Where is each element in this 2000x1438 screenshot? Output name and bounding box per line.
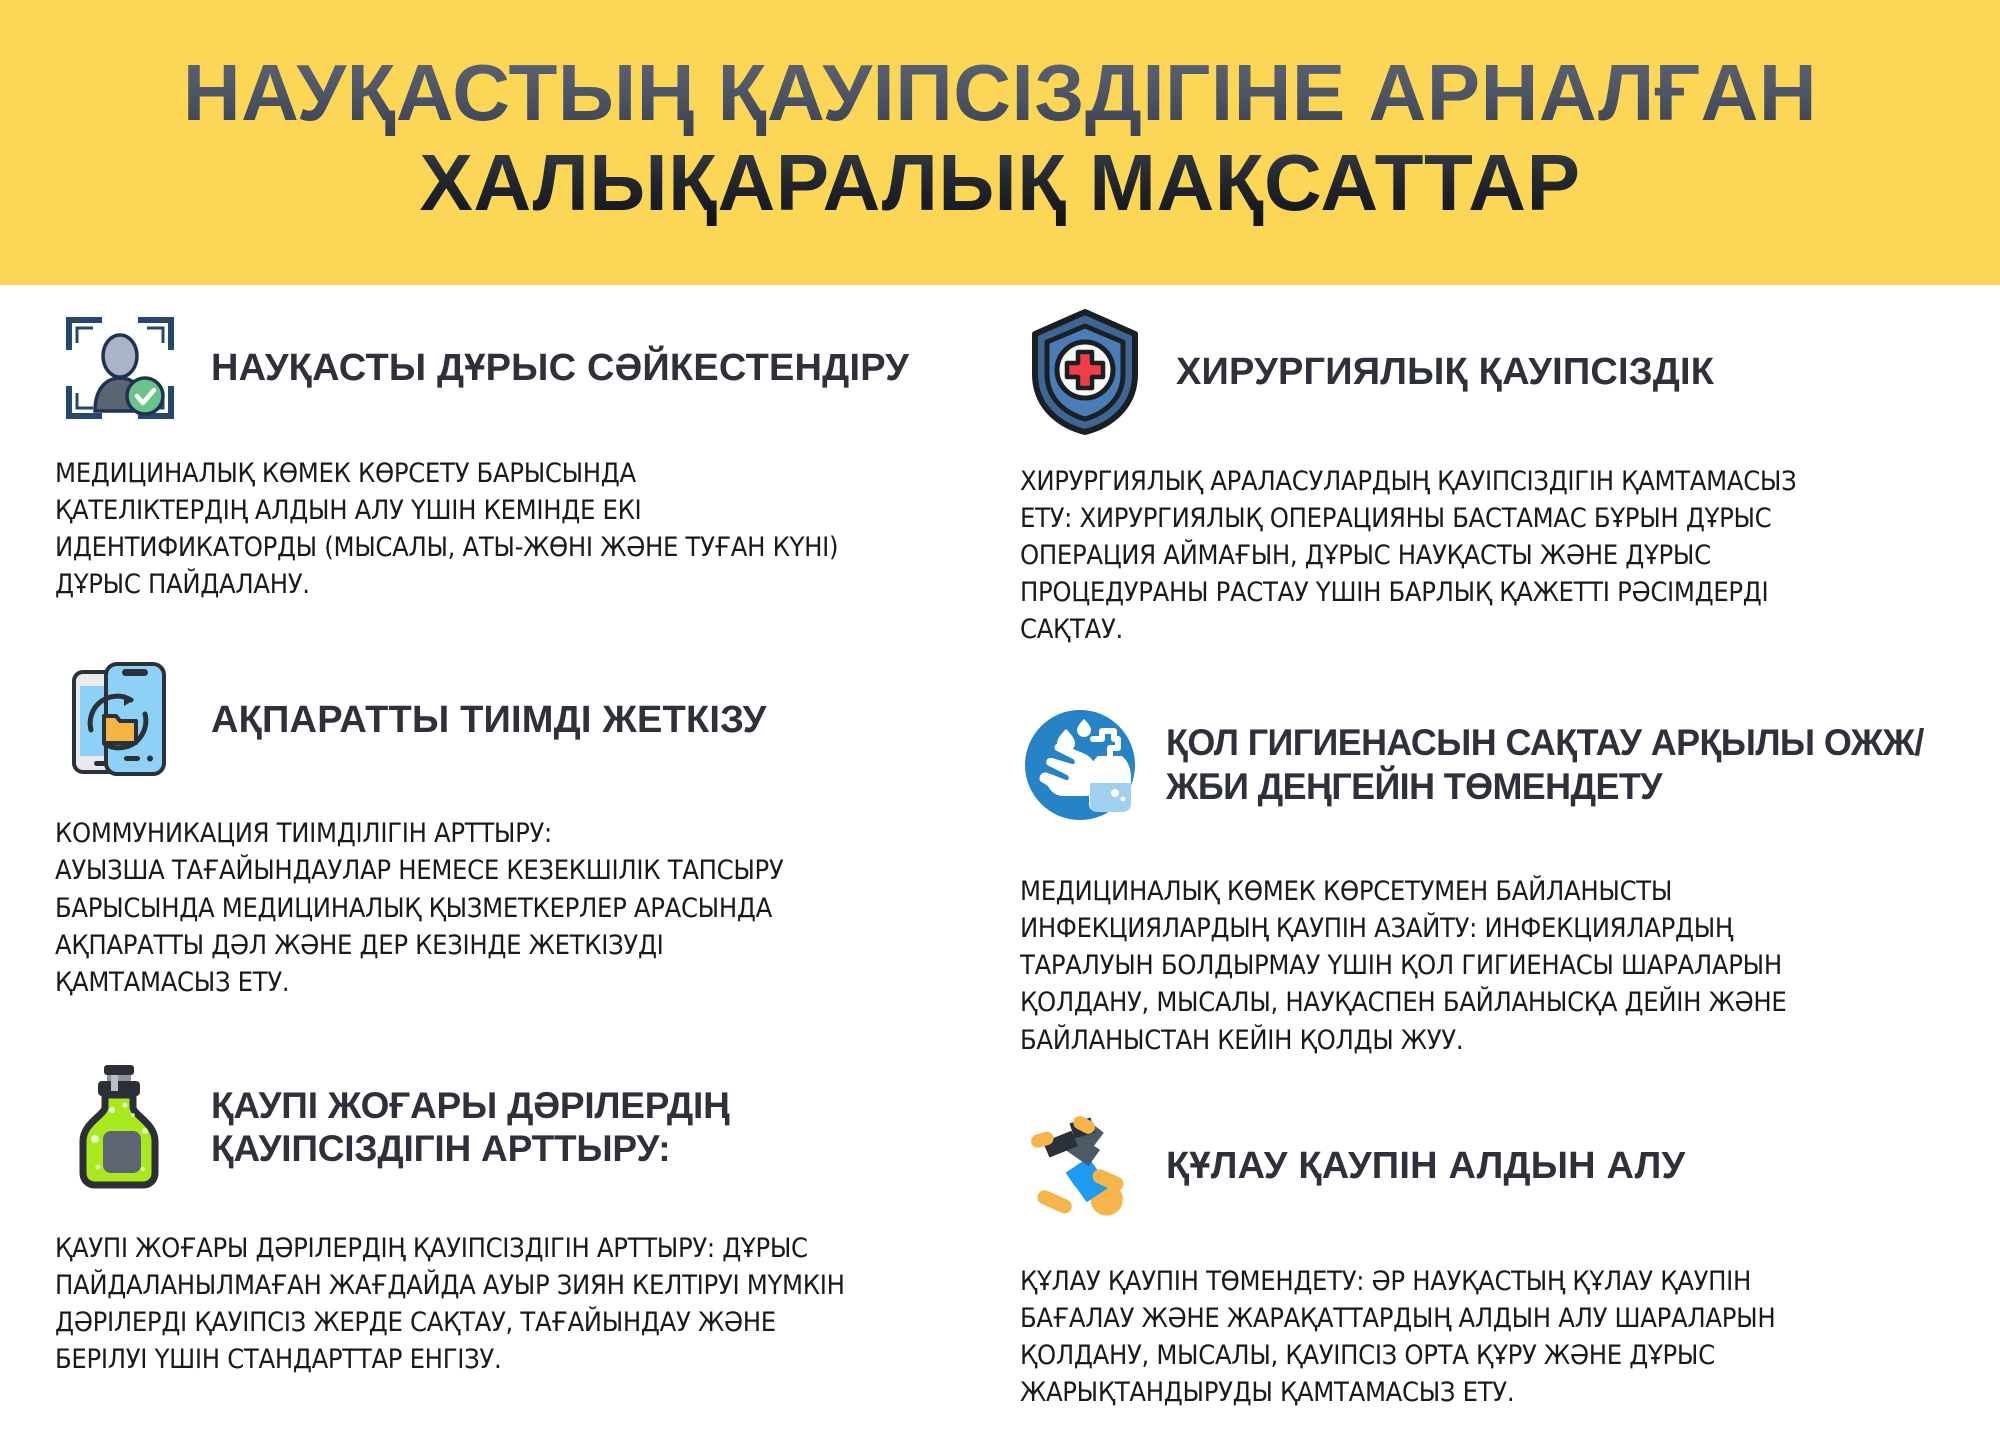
page-title-line-1: НАУҚАСТЫҢ ҚАУІПСІЗДІГІНЕ АРНАЛҒАН: [183, 48, 1817, 138]
section-title: ҚҰЛАУ ҚАУПІН АЛДЫН АЛУ: [1166, 1144, 1685, 1189]
section-title: ХИРУРГИЯЛЫҚ ҚАУІПСІЗДІК: [1176, 350, 1714, 395]
section-title: АҚПАРАТТЫ ТИІМДІ ЖЕТКІЗУ: [211, 698, 767, 743]
section-body-text: КОММУНИКАЦИЯ ТИІМДІЛІГІН АРТТЫРУ: АУЫЗША…: [55, 815, 954, 1000]
data-transfer-phones-icon: [55, 655, 185, 785]
section-title: ҚАУПІ ЖОҒАРЫ ДӘРІЛЕРДІҢ ҚАУІПСІЗДІГІН АР…: [211, 1084, 960, 1171]
section-patient-identification: НАУҚАСТЫ ДҰРЫС СӘЙКЕСТЕНДІРУ МЕДИЦИНАЛЫҚ…: [55, 303, 960, 603]
section-header: ҚОЛ ГИГИЕНАСЫН САҚТАУ АРҚЫЛЫ ОЖЖ/ЖБИ ДЕҢ…: [1020, 690, 1950, 839]
medical-shield-icon: [1020, 307, 1150, 437]
patient-identification-icon: [55, 303, 185, 433]
section-fall-prevention: ҚҰЛАУ ҚАУПІН АЛДЫН АЛУ ҚҰЛАУ ҚАУПІН ТӨМЕ…: [1020, 1107, 1950, 1411]
section-hand-hygiene: ҚОЛ ГИГИЕНАСЫН САҚТАУ АРҚЫЛЫ ОЖЖ/ЖБИ ДЕҢ…: [1020, 690, 1950, 1058]
right-column: ХИРУРГИЯЛЫҚ ҚАУІПСІЗДІК ХИРУРГИЯЛЫҚ АРАЛ…: [1000, 285, 2000, 1438]
section-body-text: ҚҰЛАУ ҚАУПІН ТӨМЕНДЕТУ: ӘР НАУҚАСТЫҢ ҚҰЛ…: [1020, 1263, 1944, 1411]
section-body-text: ХИРУРГИЯЛЫҚ АРАЛАСУЛАРДЫҢ ҚАУІПСІЗДІГІН …: [1020, 463, 1944, 648]
hand-hygiene-icon: [1020, 705, 1140, 825]
section-header: ХИРУРГИЯЛЫҚ ҚАУІПСІЗДІК: [1020, 307, 1950, 437]
page-header-banner: НАУҚАСТЫҢ ҚАУІПСІЗДІГІНЕ АРНАЛҒАН ХАЛЫҚА…: [0, 0, 2000, 285]
content-area: НАУҚАСТЫ ДҰРЫС СӘЙКЕСТЕНДІРУ МЕДИЦИНАЛЫҚ…: [0, 285, 2000, 1438]
section-header: ҚАУПІ ЖОҒАРЫ ДӘРІЛЕРДІҢ ҚАУІПСІЗДІГІН АР…: [55, 1053, 960, 1202]
section-title: ҚОЛ ГИГИЕНАСЫН САҚТАУ АРҚЫЛЫ ОЖЖ/ЖБИ ДЕҢ…: [1166, 721, 1926, 808]
section-body-text: МЕДИЦИНАЛЫҚ КӨМЕК КӨРСЕТУ БАРЫСЫНДА ҚАТЕ…: [55, 455, 954, 603]
page-title-line-2: ХАЛЫҚАРАЛЫҚ МАҚСАТТАР: [420, 138, 1581, 228]
section-high-alert-medication: ҚАУПІ ЖОҒАРЫ ДӘРІЛЕРДІҢ ҚАУІПСІЗДІГІН АР…: [55, 1053, 960, 1378]
section-surgical-safety: ХИРУРГИЯЛЫҚ ҚАУІПСІЗДІК ХИРУРГИЯЛЫҚ АРАЛ…: [1020, 307, 1950, 648]
section-information-transfer: АҚПАРАТТЫ ТИІМДІ ЖЕТКІЗУ КОММУНИКАЦИЯ ТИ…: [55, 655, 960, 1000]
hazardous-medication-bottle-icon: [55, 1062, 185, 1192]
falling-person-icon: [1020, 1107, 1140, 1227]
section-title: НАУҚАСТЫ ДҰРЫС СӘЙКЕСТЕНДІРУ: [211, 346, 909, 391]
section-body-text: ҚАУПІ ЖОҒАРЫ ДӘРІЛЕРДІҢ ҚАУІПСІЗДІГІН АР…: [55, 1230, 954, 1378]
section-body-text: МЕДИЦИНАЛЫҚ КӨМЕК КӨРСЕТУМЕН БАЙЛАНЫСТЫ …: [1020, 873, 1944, 1058]
section-header: АҚПАРАТТЫ ТИІМДІ ЖЕТКІЗУ: [55, 655, 960, 785]
section-header: НАУҚАСТЫ ДҰРЫС СӘЙКЕСТЕНДІРУ: [55, 303, 960, 433]
section-header: ҚҰЛАУ ҚАУПІН АЛДЫН АЛУ: [1020, 1107, 1950, 1227]
left-column: НАУҚАСТЫ ДҰРЫС СӘЙКЕСТЕНДІРУ МЕДИЦИНАЛЫҚ…: [0, 285, 1000, 1438]
